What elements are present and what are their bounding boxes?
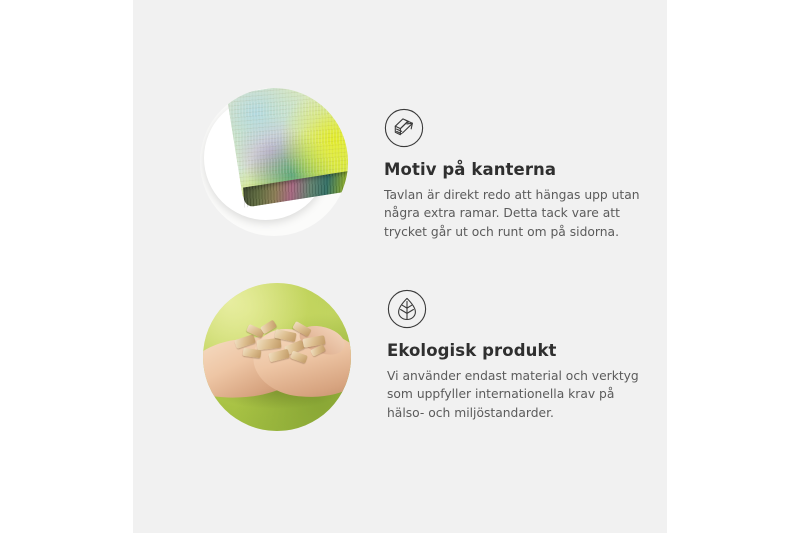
feature-block-ekologisk-produkt: Ekologisk produkt Vi använder endast mat…	[203, 283, 655, 431]
product-feature-page: Motiv på kanterna Tavlan är direkt redo …	[0, 0, 800, 533]
canvas-artwork	[226, 88, 348, 226]
feature-block-motiv-pa-kanterna: Motiv på kanterna Tavlan är direkt redo …	[200, 88, 652, 242]
feature-text-1: Motiv på kanterna Tavlan är direkt redo …	[384, 88, 652, 242]
canvas-corner-photo	[200, 88, 348, 236]
content-panel: Motiv på kanterna Tavlan är direkt redo …	[133, 0, 667, 533]
hands-wood-chips-photo	[203, 283, 351, 431]
feature-description-2: Vi använder endast material och verktyg …	[387, 367, 655, 423]
canvas-wrapped-edge-icon	[384, 108, 424, 148]
leaf-icon	[387, 289, 427, 329]
wood-chips	[231, 321, 327, 365]
feature-description-1: Tavlan är direkt redo att hängas upp uta…	[384, 186, 652, 242]
feature-text-2: Ekologisk produkt Vi använder endast mat…	[387, 283, 655, 423]
feature-title-1: Motiv på kanterna	[384, 160, 652, 180]
feature-title-2: Ekologisk produkt	[387, 341, 655, 361]
